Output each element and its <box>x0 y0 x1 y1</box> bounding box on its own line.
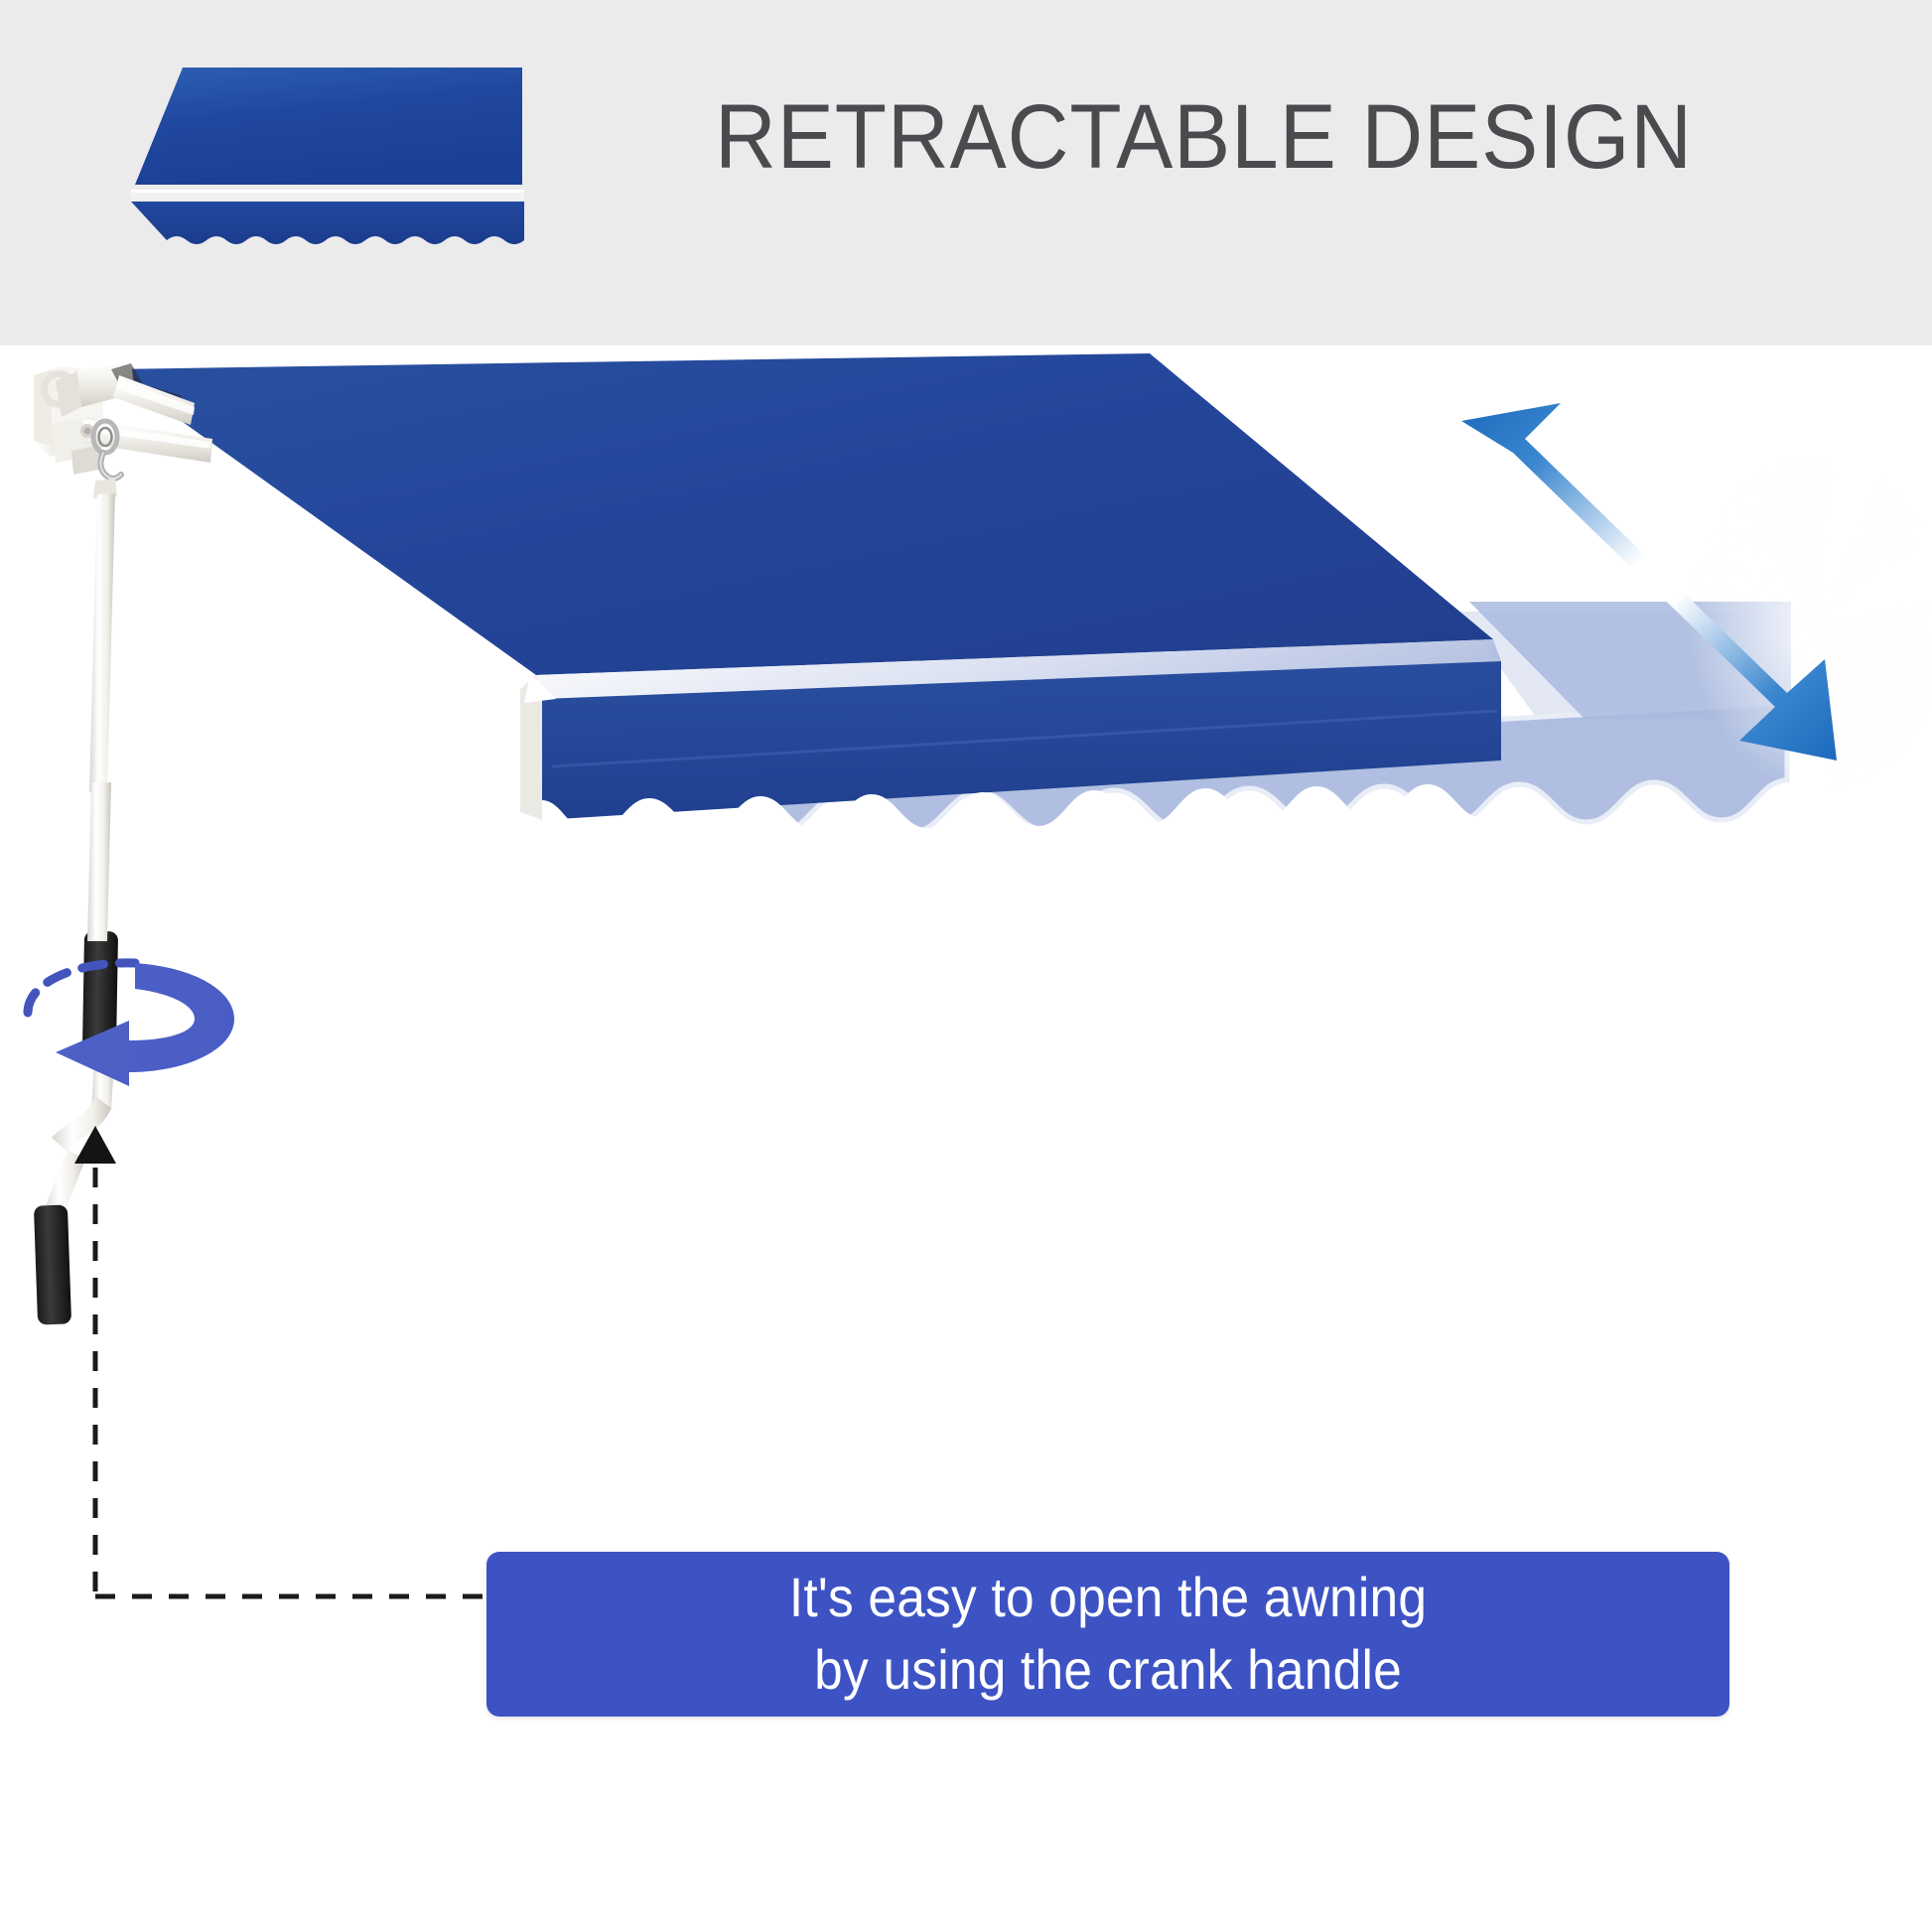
awning-canopy <box>109 353 1501 820</box>
callout-text: It's easy to open the awning by using th… <box>789 1562 1427 1707</box>
callout-box: It's easy to open the awning by using th… <box>486 1552 1729 1717</box>
callout-pointer <box>74 1126 490 1596</box>
header-band: RETRACTABLE DESIGN <box>0 0 1932 345</box>
infographic-page: RETRACTABLE DESIGN <box>0 0 1932 1932</box>
crank-pole <box>34 479 118 1325</box>
awning-icon <box>95 60 540 250</box>
page-title: RETRACTABLE DESIGN <box>715 91 1693 183</box>
crank-grip-lower <box>34 1204 71 1324</box>
crank-rotation-arrow <box>28 963 234 1086</box>
